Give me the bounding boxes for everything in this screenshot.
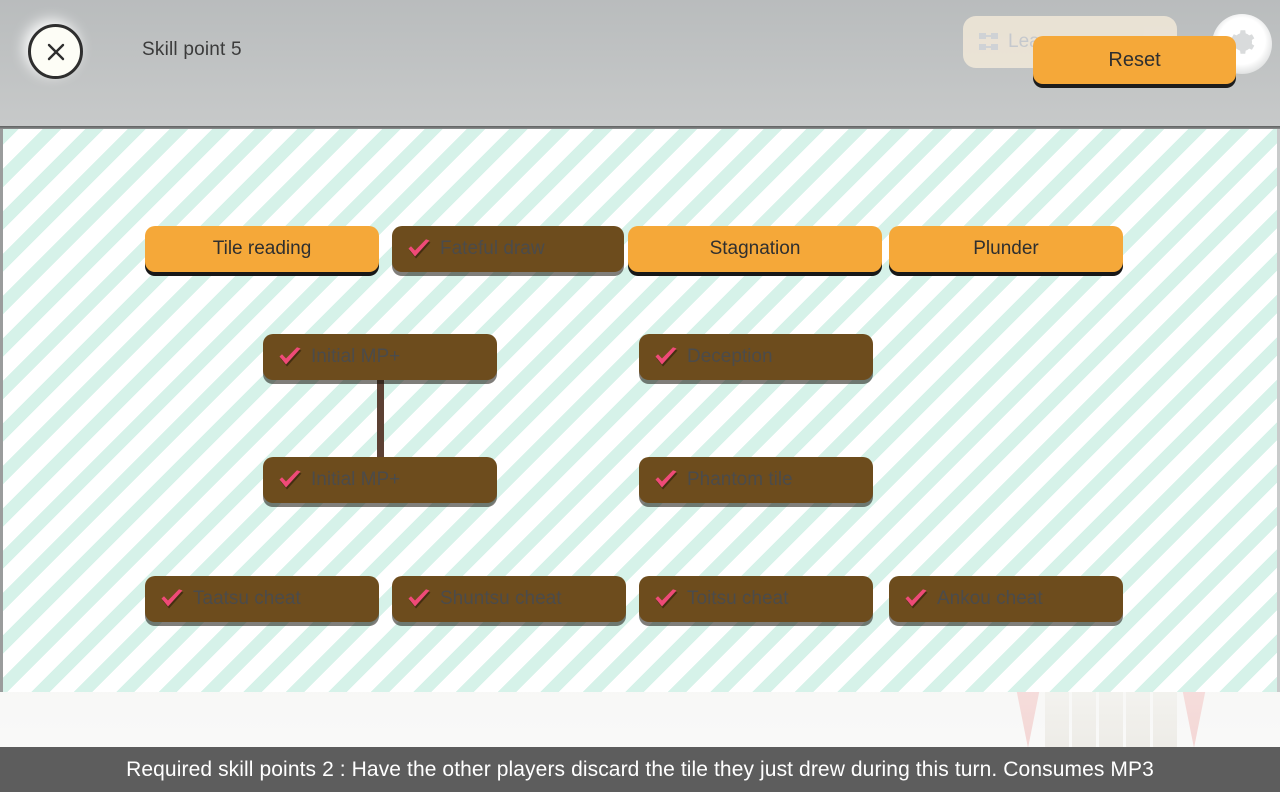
skill-node-label: Initial MP+: [311, 346, 400, 368]
skill-node-label: Initial MP+: [311, 469, 400, 491]
header-divider: [0, 126, 1280, 129]
check-icon: [653, 588, 679, 610]
check-icon: [653, 469, 679, 491]
check-icon: [903, 588, 929, 610]
skill-node-shuntsu-cheat[interactable]: Shuntsu cheat: [392, 576, 626, 622]
status-bar-text: Required skill points 2 : Have the other…: [126, 758, 1154, 782]
board-left-edge: [0, 129, 3, 692]
skill-node-fateful-draw[interactable]: Fateful draw: [392, 226, 624, 272]
skill-node-stagnation[interactable]: Stagnation: [628, 226, 882, 272]
skill-node-phantom-tile[interactable]: Phantom tile: [639, 457, 873, 503]
status-bar: Required skill points 2 : Have the other…: [0, 747, 1280, 792]
skill-node-ankou-cheat[interactable]: Ankou cheat: [889, 576, 1123, 622]
skill-node-tile-reading[interactable]: Tile reading: [145, 226, 379, 272]
skill-node-label: Shuntsu cheat: [440, 588, 561, 610]
check-icon: [159, 588, 185, 610]
skill-node-label: Stagnation: [710, 238, 801, 260]
skill-tree-icon: [979, 33, 999, 51]
skill-node-deception[interactable]: Deception: [639, 334, 873, 380]
skill-node-label: Deception: [687, 346, 773, 368]
skill-node-label: Tile reading: [213, 238, 312, 260]
skill-node-label: Toitsu cheat: [687, 588, 788, 610]
reset-button-label: Reset: [1108, 49, 1160, 72]
check-icon: [653, 346, 679, 368]
skill-node-label: Phantom tile: [687, 469, 793, 491]
check-icon: [406, 588, 432, 610]
close-icon: [44, 40, 68, 64]
header-bar: Skill point 5 Learn Reset: [0, 0, 1280, 126]
skill-node-plunder[interactable]: Plunder: [889, 226, 1123, 272]
close-button[interactable]: [28, 24, 83, 79]
check-icon: [406, 238, 432, 260]
skill-node-toitsu-cheat[interactable]: Toitsu cheat: [639, 576, 873, 622]
page-title: Skill point 5: [142, 39, 242, 61]
skill-tree-screen: Skill point 5 Learn Reset: [0, 0, 1280, 792]
skill-node-taatsu-cheat[interactable]: Taatsu cheat: [145, 576, 379, 622]
skill-node-label: Plunder: [973, 238, 1039, 260]
check-icon: [277, 469, 303, 491]
skill-node-label: Ankou cheat: [937, 588, 1043, 610]
reset-button[interactable]: Reset: [1033, 36, 1236, 84]
skill-node-label: Taatsu cheat: [193, 588, 301, 610]
skill-node-initial-mp-1[interactable]: Initial MP+: [263, 334, 497, 380]
check-icon: [277, 346, 303, 368]
skill-node-label: Fateful draw: [440, 238, 545, 260]
skill-tree-board: Tile readingFateful drawStagnationPlunde…: [0, 129, 1280, 692]
skill-connector-initial-mp-link: [377, 378, 384, 462]
skill-node-initial-mp-2[interactable]: Initial MP+: [263, 457, 497, 503]
